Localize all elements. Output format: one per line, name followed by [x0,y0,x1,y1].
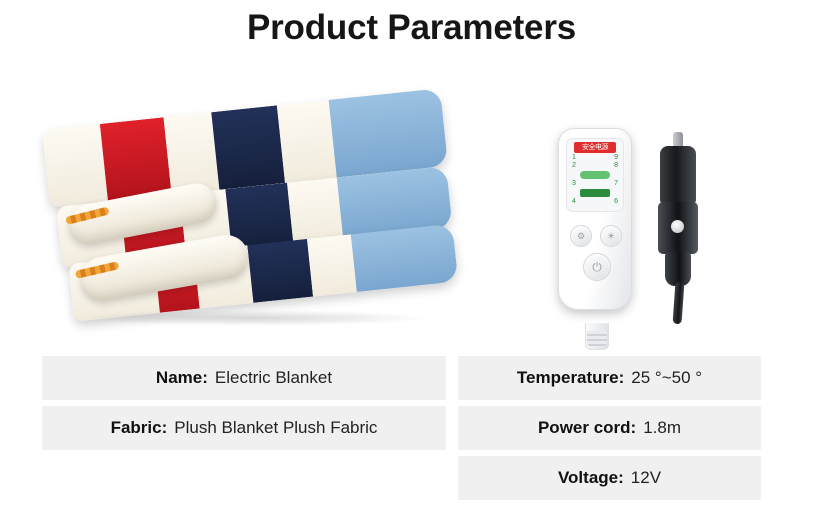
spec-cell-fabric: Fabric: Plush Blanket Plush Fabric [42,406,446,450]
plug-tail [665,252,691,286]
spec-cell-name: Name: Electric Blanket [42,356,446,400]
plug-barrel [660,146,696,204]
controller-digit-left-4: 4 [572,198,576,206]
controller-indicator-bar [580,171,610,179]
controller-digit-row-1: 1 9 [569,154,621,162]
page-title: Product Parameters [0,8,823,48]
controller-digit-row-3: 3 7 [569,180,621,188]
controller-cable-strain-relief [585,323,609,350]
controller-device: 安全电源 1 9 2 8 3 7 4 6 [558,128,632,310]
controller-digit-right-1: 9 [614,154,618,162]
controller-left-button[interactable]: ⚙ [570,225,592,247]
spec-value-power-cord: 1.8m [643,418,681,438]
product-parameters-page: Product Parameters [0,0,823,518]
car-plug-device [652,132,704,322]
plug-led-indicator [671,220,684,233]
spec-cell-temperature: Temperature: 25 °~50 ° [458,356,761,400]
blanket-shadow [72,310,432,326]
controller-screen: 安全电源 1 9 2 8 3 7 4 6 [566,138,624,212]
spec-cell-empty [42,456,446,500]
spec-value-name: Electric Blanket [215,368,332,388]
spec-value-fabric: Plush Blanket Plush Fabric [174,418,377,438]
controller-digit-left-1: 1 [572,154,576,162]
spec-key-name: Name: [156,368,208,388]
controller-digit-row-4: 4 6 [569,198,621,206]
controller-digit-right-2: 8 [614,162,618,170]
controller-safety-label: 安全电源 [574,142,616,153]
blanket-illustration [32,78,482,338]
plug-cord [673,282,685,325]
controller-digit-right-4: 6 [614,198,618,206]
blanket-image [32,78,482,338]
spec-key-voltage: Voltage: [558,468,624,488]
controller-digit-left-2: 2 [572,162,576,170]
spec-cell-voltage: Voltage: 12V [458,456,761,500]
blanket-stack [40,65,472,322]
controller-right-button[interactable]: ☀ [600,225,622,247]
table-row: Name: Electric Blanket Temperature: 25 °… [0,356,823,400]
controller-digit-left-3: 3 [572,180,576,188]
spec-table: Name: Electric Blanket Temperature: 25 °… [0,356,823,500]
controller-and-plug-image: 安全电源 1 9 2 8 3 7 4 6 [540,110,780,350]
spec-cell-power-cord: Power cord: 1.8m [458,406,761,450]
controller-digit-row-2: 2 8 [569,162,621,170]
spec-value-voltage: 12V [631,468,661,488]
controller-digit-right-3: 7 [614,180,618,188]
spec-key-temperature: Temperature: [517,368,624,388]
power-button-icon[interactable]: ⏻ [583,253,611,281]
spec-key-fabric: Fabric: [111,418,168,438]
table-row: Voltage: 12V [0,456,823,500]
spec-key-power-cord: Power cord: [538,418,636,438]
table-row: Fabric: Plush Blanket Plush Fabric Power… [0,406,823,450]
spec-value-temperature: 25 °~50 ° [631,368,702,388]
controller-mode-bar [580,189,610,197]
